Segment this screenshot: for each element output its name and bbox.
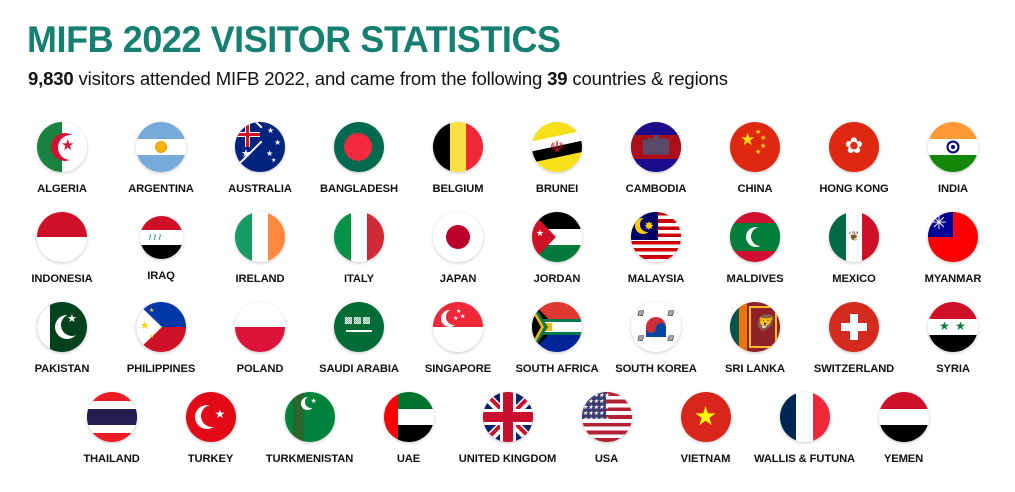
flag-turkey-icon: ★ [186, 392, 236, 442]
subtitle: 9,830 visitors attended MIFB 2022, and c… [28, 68, 728, 90]
country-label: CHINA [738, 183, 773, 195]
flag-turkmenistan-icon: ★ [285, 392, 335, 442]
country-label: BRUNEI [536, 183, 578, 195]
flag-saudi-arabia-icon: ▩▩▩ [334, 302, 384, 352]
country-label: PAKISTAN [35, 363, 90, 375]
visitor-count: 9,830 [28, 68, 74, 89]
flag-india-icon [928, 122, 978, 172]
country-item-india[interactable]: INDIA [904, 122, 1003, 195]
country-item-malaysia[interactable]: ✸ MALAYSIA [607, 212, 706, 285]
flag-uae-icon [384, 392, 434, 442]
country-label: SWITZERLAND [814, 363, 894, 375]
flag-mexico-icon: ❦ [829, 212, 879, 262]
country-label: POLAND [237, 363, 284, 375]
country-label: ARGENTINA [128, 183, 194, 195]
flag-china-icon: ★ ★ ★ ★ ★ [730, 122, 780, 172]
flag-thailand-icon [87, 392, 137, 442]
flag-syria-icon: ★ ★ [928, 302, 978, 352]
flag-indonesia-icon [37, 212, 87, 262]
country-label: SOUTH KOREA [615, 363, 697, 375]
flag-ireland-icon [235, 212, 285, 262]
page-title: MIFB 2022 VISITOR STATISTICS [27, 19, 561, 61]
country-item-italy[interactable]: ITALY [310, 212, 409, 285]
country-label: ITALY [344, 273, 374, 285]
infographic-page: MIFB 2022 VISITOR STATISTICS 9,830 visit… [0, 0, 1015, 492]
flag-japan-icon [433, 212, 483, 262]
country-label: PHILIPPINES [127, 363, 196, 375]
country-item-yemen[interactable]: YEMEN [854, 392, 953, 465]
flag-algeria-icon: ★ [37, 122, 87, 172]
country-item-turkmenistan[interactable]: ★ TURKMENISTAN [260, 392, 359, 465]
flag-row: THAILAND ★ TURKEY ★ T [0, 392, 1015, 482]
country-label: UNITED KINGDOM [459, 453, 556, 465]
flag-wallis-futuna-icon [780, 392, 830, 442]
flag-yemen-icon [879, 392, 929, 442]
country-item-mexico[interactable]: ❦ MEXICO [805, 212, 904, 285]
country-item-united-kingdom[interactable]: UNITED KINGDOM [458, 392, 557, 465]
flag-row: ★ PAKISTAN ★ ★ ★ PHILIPPINES [0, 302, 1015, 392]
country-item-syria[interactable]: ★ ★ SYRIA [904, 302, 1003, 375]
country-label: CAMBODIA [626, 183, 687, 195]
country-item-myanmar[interactable]: ✳ MYANMAR [904, 212, 1003, 285]
country-label: MEXICO [832, 273, 876, 285]
country-item-indonesia[interactable]: INDONESIA [13, 212, 112, 285]
country-item-turkey[interactable]: ★ TURKEY [161, 392, 260, 465]
flag-jordan-icon: ★ [532, 212, 582, 262]
country-label: JAPAN [440, 273, 477, 285]
country-label: HONG KONG [819, 183, 888, 195]
flag-belgium-icon [433, 122, 483, 172]
country-label: SAUDI ARABIA [319, 363, 399, 375]
country-label: INDONESIA [31, 273, 92, 285]
country-label: SINGAPORE [425, 363, 491, 375]
country-item-japan[interactable]: JAPAN [409, 212, 508, 285]
country-item-belgium[interactable]: BELGIUM [409, 122, 508, 195]
country-item-uae[interactable]: UAE [359, 392, 458, 465]
country-item-cambodia[interactable]: CAMBODIA [607, 122, 706, 195]
country-label: SOUTH AFRICA [516, 363, 599, 375]
flag-bangladesh-icon [334, 122, 384, 172]
flag-cambodia-icon [631, 122, 681, 172]
subtitle-post-text: countries & regions [567, 68, 728, 89]
flag-italy-icon [334, 212, 384, 262]
flag-switzerland-icon [829, 302, 879, 352]
country-item-south-korea[interactable]: ▨ ▨ ▨ ▨ SOUTH KOREA [607, 302, 706, 375]
subtitle-mid-text: visitors attended MIFB 2022, and came fr… [74, 68, 548, 89]
country-item-saudi-arabia[interactable]: ▩▩▩ SAUDI ARABIA [310, 302, 409, 375]
country-count: 39 [547, 68, 567, 89]
country-item-switzerland[interactable]: SWITZERLAND [805, 302, 904, 375]
country-item-jordan[interactable]: ★ JORDAN [508, 212, 607, 285]
country-item-maldives[interactable]: MALDIVES [706, 212, 805, 285]
country-item-brunei[interactable]: ☫ BRUNEI [508, 122, 607, 195]
country-label: VIETNAM [681, 453, 731, 465]
flag-row: ★ ALGERIA ARGENTINA [0, 122, 1015, 212]
country-item-thailand[interactable]: THAILAND [62, 392, 161, 465]
country-item-wallis-futuna[interactable]: WALLIS & FUTUNA [755, 392, 854, 465]
country-item-philippines[interactable]: ★ ★ ★ PHILIPPINES [112, 302, 211, 375]
country-label: WALLIS & FUTUNA [754, 453, 855, 465]
country-label: UAE [397, 453, 420, 465]
country-label: SRI LANKA [725, 363, 785, 375]
flag-row: INDONESIA ⌇⌇⌇ IRAQ IRELAND ITALY [0, 212, 1015, 302]
flag-sri-lanka-icon: 🦁 [730, 302, 780, 352]
country-label: IRELAND [235, 273, 284, 285]
flag-maldives-icon [730, 212, 780, 262]
country-item-pakistan[interactable]: ★ PAKISTAN [13, 302, 112, 375]
country-item-vietnam[interactable]: ★ VIETNAM [656, 392, 755, 465]
country-label: BELGIUM [433, 183, 484, 195]
country-label: TURKEY [188, 453, 233, 465]
country-item-south-africa[interactable]: SOUTH AFRICA [508, 302, 607, 375]
country-item-argentina[interactable]: ARGENTINA [112, 122, 211, 195]
country-label: BANGLADESH [320, 183, 398, 195]
country-item-sri-lanka[interactable]: 🦁 SRI LANKA [706, 302, 805, 375]
country-label: IRAQ [147, 270, 175, 282]
flag-australia-icon: ★ ★ ★ ★ ★ [235, 122, 285, 172]
country-label: USA [595, 453, 618, 465]
country-label: JORDAN [534, 273, 581, 285]
flag-argentina-icon [136, 122, 186, 172]
flag-poland-icon [235, 302, 285, 352]
country-label: MYANMAR [925, 273, 982, 285]
country-label: AUSTRALIA [228, 183, 292, 195]
country-item-australia[interactable]: ★ ★ ★ ★ ★ AUSTRALIA [211, 122, 310, 195]
flag-usa-icon: ★★★★★★★★★★★★★★★★★★★★★★★ [582, 392, 632, 442]
country-label: TURKMENISTAN [266, 453, 353, 465]
country-label: MALDIVES [726, 273, 783, 285]
country-item-singapore[interactable]: ★ ★ ★ SINGAPORE [409, 302, 508, 375]
flag-iraq-icon: ⌇⌇⌇ [140, 216, 183, 259]
flag-myanmar-icon: ✳ [928, 212, 978, 262]
country-label: THAILAND [83, 453, 139, 465]
country-item-algeria[interactable]: ★ ALGERIA [13, 122, 112, 195]
country-label: SYRIA [936, 363, 970, 375]
country-item-hong-kong[interactable]: ✿ HONG KONG [805, 122, 904, 195]
country-item-bangladesh[interactable]: BANGLADESH [310, 122, 409, 195]
flag-united-kingdom-icon [483, 392, 533, 442]
flag-grid: ★ ALGERIA ARGENTINA [0, 122, 1015, 482]
flag-south-korea-icon: ▨ ▨ ▨ ▨ [631, 302, 681, 352]
country-label: MALAYSIA [628, 273, 685, 285]
country-label: ALGERIA [37, 183, 87, 195]
flag-pakistan-icon: ★ [37, 302, 87, 352]
country-item-ireland[interactable]: IRELAND [211, 212, 310, 285]
flag-vietnam-icon: ★ [681, 392, 731, 442]
country-item-iraq[interactable]: ⌇⌇⌇ IRAQ [112, 212, 211, 282]
country-item-poland[interactable]: POLAND [211, 302, 310, 375]
country-label: YEMEN [884, 453, 923, 465]
flag-philippines-icon: ★ ★ ★ [136, 302, 186, 352]
country-item-china[interactable]: ★ ★ ★ ★ ★ CHINA [706, 122, 805, 195]
flag-south-africa-icon [532, 302, 582, 352]
flag-hong-kong-icon: ✿ [829, 122, 879, 172]
flag-malaysia-icon: ✸ [631, 212, 681, 262]
flag-singapore-icon: ★ ★ ★ [433, 302, 483, 352]
flag-brunei-icon: ☫ [532, 122, 582, 172]
country-label: INDIA [938, 183, 968, 195]
country-item-usa[interactable]: ★★★★★★★★★★★★★★★★★★★★★★★ USA [557, 392, 656, 465]
